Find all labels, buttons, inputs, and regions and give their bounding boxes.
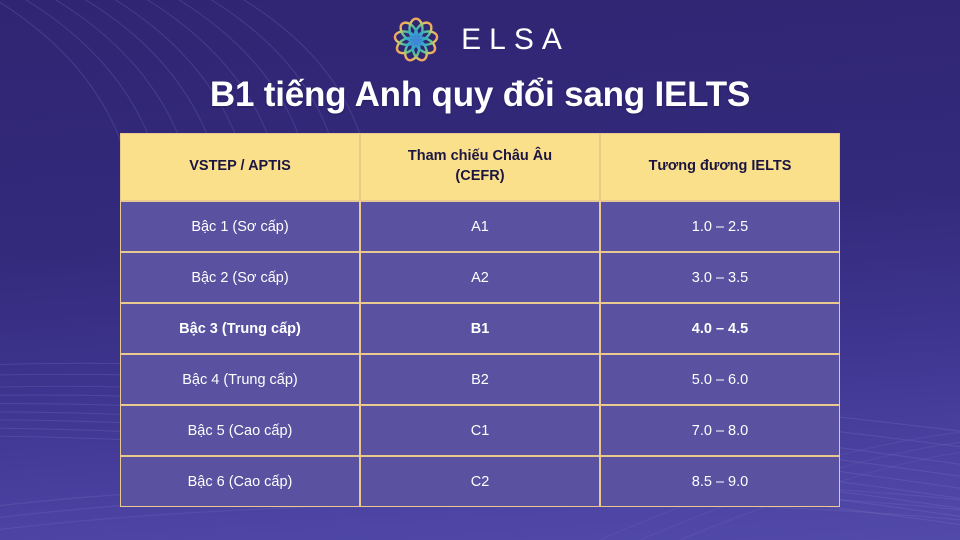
column-header-cefr-sublabel: (CEFR) xyxy=(367,167,593,187)
brand-wordmark: ELSA xyxy=(458,25,570,55)
table-row: Bậc 2 (Sơ cấp) A2 3.0 – 3.5 xyxy=(120,252,840,303)
cell-cefr: B1 xyxy=(360,303,600,354)
table-header: VSTEP / APTIS Tham chiếu Châu Âu (CEFR) … xyxy=(120,133,840,201)
slide-canvas: ELSA B1 tiếng Anh quy đổi sang IELTS VST… xyxy=(0,0,960,540)
table-body: Bậc 1 (Sơ cấp) A1 1.0 – 2.5 Bậc 2 (Sơ cấ… xyxy=(120,201,840,507)
cell-vstep: Bậc 5 (Cao cấp) xyxy=(120,405,360,456)
conversion-table-container: VSTEP / APTIS Tham chiếu Châu Âu (CEFR) … xyxy=(120,133,840,507)
cell-ielts: 8.5 – 9.0 xyxy=(600,456,840,507)
table-row: Bậc 6 (Cao cấp) C2 8.5 – 9.0 xyxy=(120,456,840,507)
column-header-vstep: VSTEP / APTIS xyxy=(120,133,360,201)
cell-vstep: Bậc 4 (Trung cấp) xyxy=(120,354,360,405)
cell-ielts: 4.0 – 4.5 xyxy=(600,303,840,354)
table-row-highlighted: Bậc 3 (Trung cấp) B1 4.0 – 4.5 xyxy=(120,303,840,354)
cell-ielts: 7.0 – 8.0 xyxy=(600,405,840,456)
cell-cefr: C2 xyxy=(360,456,600,507)
cell-cefr: B2 xyxy=(360,354,600,405)
brand-header: ELSA xyxy=(0,13,960,67)
table-row: Bậc 1 (Sơ cấp) A1 1.0 – 2.5 xyxy=(120,201,840,252)
cell-ielts: 5.0 – 6.0 xyxy=(600,354,840,405)
table-row: Bậc 4 (Trung cấp) B2 5.0 – 6.0 xyxy=(120,354,840,405)
table-header-row: VSTEP / APTIS Tham chiếu Châu Âu (CEFR) … xyxy=(120,133,840,201)
column-header-cefr: Tham chiếu Châu Âu (CEFR) xyxy=(360,133,600,201)
elsa-flower-logo-icon xyxy=(390,14,442,66)
cell-vstep: Bậc 3 (Trung cấp) xyxy=(120,303,360,354)
cell-vstep: Bậc 6 (Cao cấp) xyxy=(120,456,360,507)
conversion-table: VSTEP / APTIS Tham chiếu Châu Âu (CEFR) … xyxy=(120,133,840,507)
cell-ielts: 3.0 – 3.5 xyxy=(600,252,840,303)
column-header-ielts-label: Tương đương IELTS xyxy=(607,157,833,177)
cell-cefr: A2 xyxy=(360,252,600,303)
cell-vstep: Bậc 2 (Sơ cấp) xyxy=(120,252,360,303)
cell-cefr: C1 xyxy=(360,405,600,456)
column-header-ielts: Tương đương IELTS xyxy=(600,133,840,201)
cell-cefr: A1 xyxy=(360,201,600,252)
column-header-cefr-label: Tham chiếu Châu Âu xyxy=(367,147,593,167)
table-row: Bậc 5 (Cao cấp) C1 7.0 – 8.0 xyxy=(120,405,840,456)
cell-ielts: 1.0 – 2.5 xyxy=(600,201,840,252)
cell-vstep: Bậc 1 (Sơ cấp) xyxy=(120,201,360,252)
page-title: B1 tiếng Anh quy đổi sang IELTS xyxy=(0,74,960,116)
column-header-vstep-label: VSTEP / APTIS xyxy=(127,157,353,177)
